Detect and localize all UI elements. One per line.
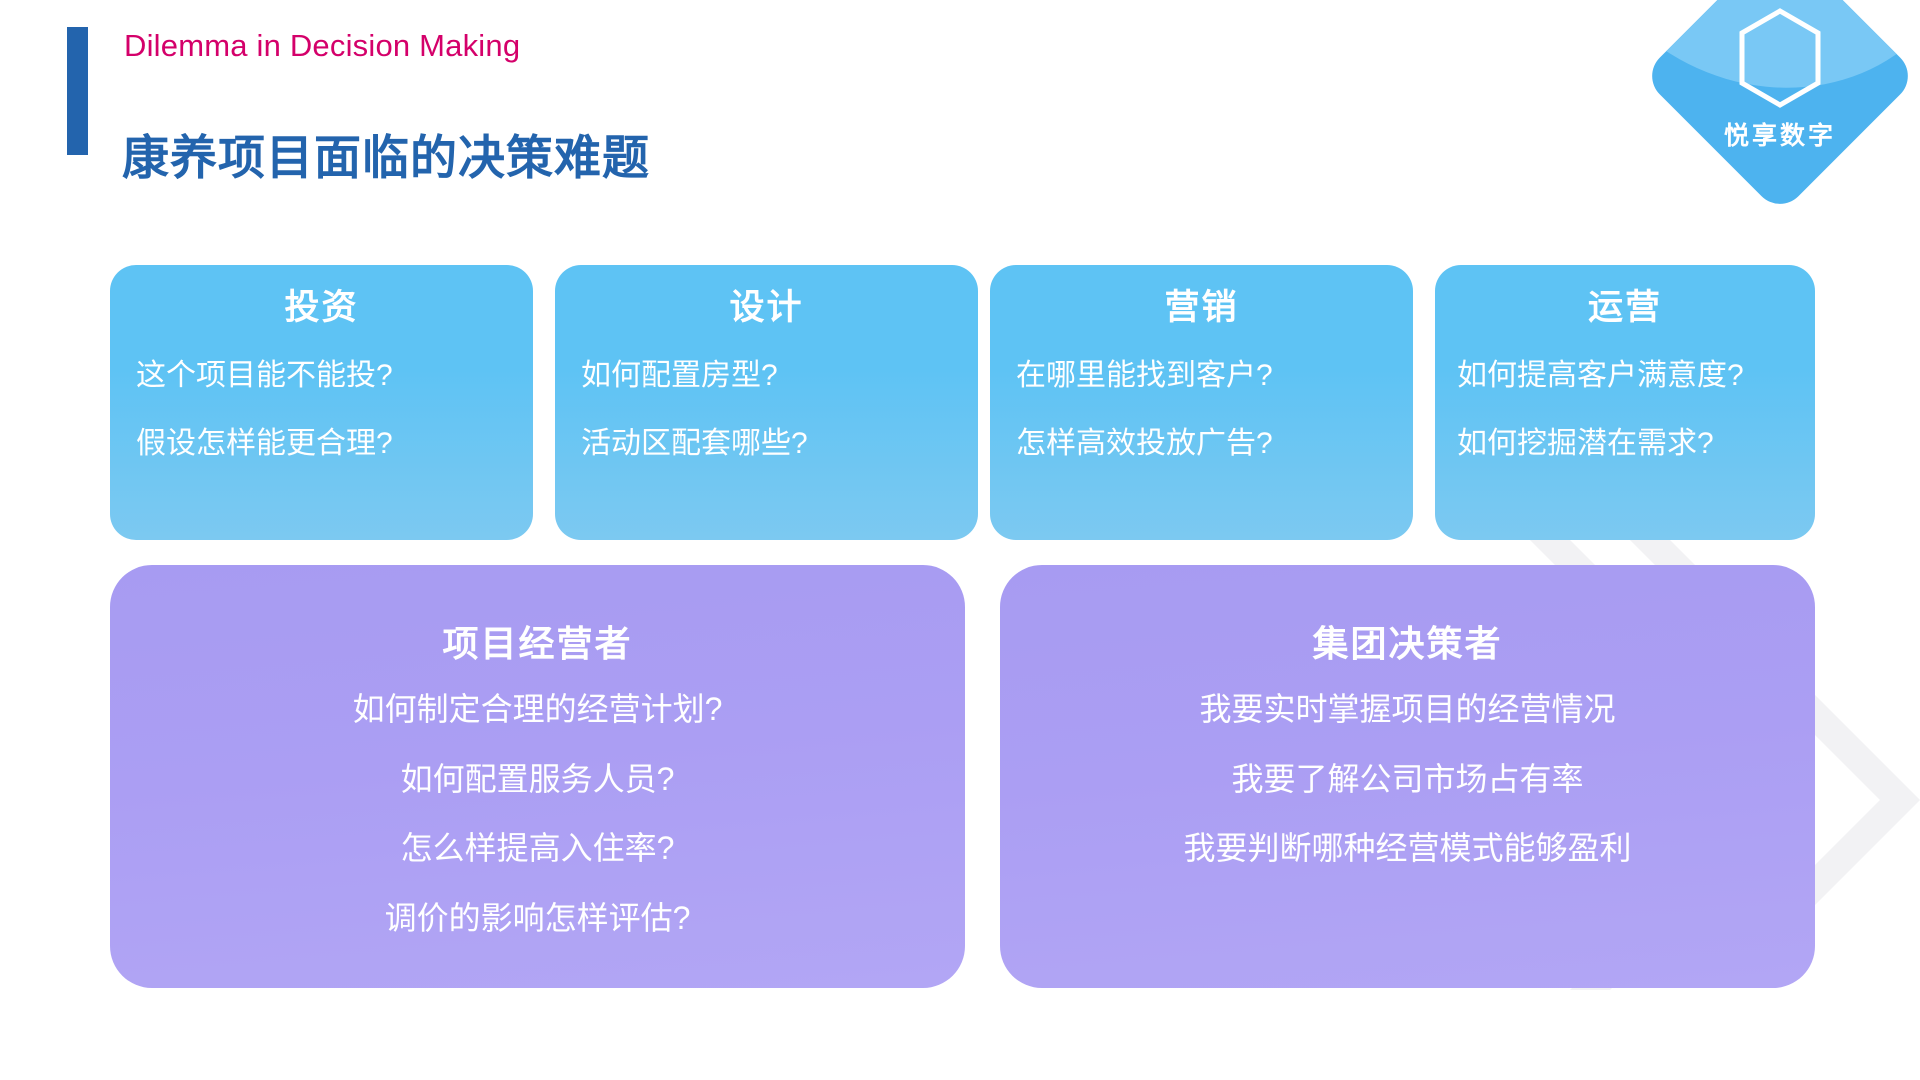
card-title: 投资: [110, 287, 533, 329]
card-line: 如何提高客户满意度?: [1457, 357, 1793, 395]
card-body: 如何配置房型? 活动区配套哪些?: [555, 357, 978, 462]
card-title: 设计: [555, 287, 978, 329]
card-line: 我要判断哪种经营模式能够盈利: [1000, 828, 1815, 870]
blue-card-row: 投资 这个项目能不能投? 假设怎样能更合理? 设计 如何配置房型? 活动区配套哪…: [110, 265, 1815, 540]
card-line: 我要实时掌握项目的经营情况: [1000, 689, 1815, 731]
card-line: 如何挖掘潜在需求?: [1457, 425, 1793, 463]
slide-root: Dilemma in Decision Making 康养项目面临的决策难题 J…: [0, 0, 1920, 1080]
card-body: 如何制定合理的经营计划? 如何配置服务人员? 怎么样提高入住率? 调价的影响怎样…: [110, 689, 965, 939]
purple-card-row: 项目经营者 如何制定合理的经营计划? 如何配置服务人员? 怎么样提高入住率? 调…: [110, 565, 1815, 988]
card-line: 我要了解公司市场占有率: [1000, 759, 1815, 801]
card-line: 如何制定合理的经营计划?: [110, 689, 965, 731]
logo-hexagon-icon: [1735, 6, 1825, 110]
title-accent-bar: [67, 27, 88, 155]
header-eyebrow: Dilemma in Decision Making: [124, 28, 520, 64]
card-group-decision-maker[interactable]: 集团决策者 我要实时掌握项目的经营情况 我要了解公司市场占有率 我要判断哪种经营…: [1000, 565, 1815, 988]
card-body: 如何提高客户满意度? 如何挖掘潜在需求?: [1435, 357, 1815, 462]
card-design[interactable]: 设计 如何配置房型? 活动区配套哪些?: [555, 265, 978, 540]
card-line: 在哪里能找到客户?: [1016, 357, 1391, 395]
card-investment[interactable]: 投资 这个项目能不能投? 假设怎样能更合理?: [110, 265, 533, 540]
card-title: 集团决策者: [1000, 615, 1815, 667]
card-line: 活动区配套哪些?: [581, 425, 956, 463]
card-line: 假设怎样能更合理?: [136, 425, 511, 463]
card-line: 怎样高效投放广告?: [1016, 425, 1391, 463]
card-line: 如何配置服务人员?: [110, 759, 965, 801]
card-body: 这个项目能不能投? 假设怎样能更合理?: [110, 357, 533, 462]
logo-content: JoyDigit 悦享数字: [1640, 0, 1920, 216]
card-line: 怎么样提高入住率?: [110, 828, 965, 870]
card-title: 运营: [1435, 287, 1815, 329]
card-line: 调价的影响怎样评估?: [110, 898, 965, 940]
card-title: 项目经营者: [110, 615, 965, 667]
slide-header: Dilemma in Decision Making 康养项目面临的决策难题 J…: [0, 0, 1920, 190]
card-line: 如何配置房型?: [581, 357, 956, 395]
page-title: 康养项目面临的决策难题: [122, 119, 650, 188]
brand-logo[interactable]: JoyDigit 悦享数字: [1640, 0, 1920, 216]
card-title: 营销: [990, 287, 1413, 329]
card-marketing[interactable]: 营销 在哪里能找到客户? 怎样高效投放广告?: [990, 265, 1413, 540]
card-operations[interactable]: 运营 如何提高客户满意度? 如何挖掘潜在需求?: [1435, 265, 1815, 540]
card-line: 这个项目能不能投?: [136, 357, 511, 395]
card-body: 我要实时掌握项目的经营情况 我要了解公司市场占有率 我要判断哪种经营模式能够盈利: [1000, 689, 1815, 870]
card-body: 在哪里能找到客户? 怎样高效投放广告?: [990, 357, 1413, 462]
card-project-operator[interactable]: 项目经营者 如何制定合理的经营计划? 如何配置服务人员? 怎么样提高入住率? 调…: [110, 565, 965, 988]
logo-chinese-name: 悦享数字: [1724, 116, 1836, 152]
